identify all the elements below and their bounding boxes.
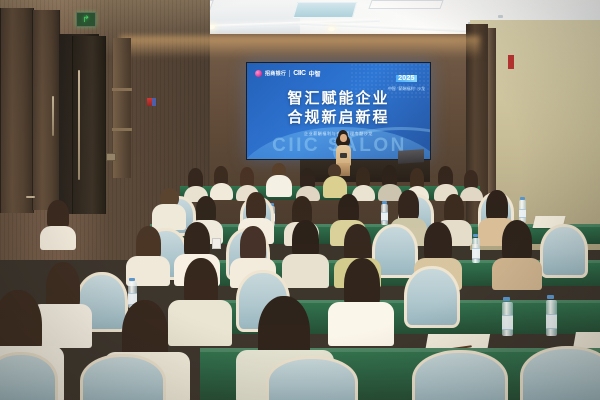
ceiling-downlight-5 bbox=[328, 27, 335, 31]
slide-title-line-1: 智汇赋能企业 bbox=[247, 89, 430, 108]
presenter-laptop bbox=[398, 149, 424, 164]
year-label: 2025 bbox=[396, 75, 417, 82]
attendee-head bbox=[398, 190, 419, 221]
wall-cove-light-glow bbox=[120, 36, 480, 58]
presenter-face bbox=[340, 134, 347, 142]
chair[interactable] bbox=[540, 224, 588, 278]
bottle-cap bbox=[547, 295, 554, 299]
attendee-body bbox=[40, 226, 76, 250]
niche-shelf-top bbox=[112, 88, 132, 91]
ciic-logo-cn-text: 中智 bbox=[309, 69, 321, 78]
slide-logo-row: 招商银行 CIIC 中智 bbox=[255, 69, 321, 78]
door-handle-2[interactable] bbox=[78, 70, 80, 180]
attendee-body bbox=[460, 187, 483, 201]
fire-alarm-box bbox=[508, 55, 514, 69]
chair-foreground[interactable] bbox=[266, 356, 358, 400]
bottle-cap bbox=[382, 201, 387, 204]
ceiling-panel-2 bbox=[368, 0, 443, 9]
ciic-logo-text: CIIC bbox=[293, 70, 305, 77]
wall-switch-plate[interactable] bbox=[106, 153, 116, 161]
wall-sign-blue bbox=[152, 98, 156, 106]
ceiling-skylight-panel bbox=[293, 2, 358, 18]
attendee-body bbox=[152, 204, 186, 230]
chair-foreground[interactable] bbox=[412, 350, 508, 400]
bottle-cap bbox=[503, 297, 510, 301]
exit-running-man-icon: ↱ bbox=[82, 15, 90, 24]
attendee-body bbox=[492, 258, 542, 290]
slide-title-block: 智汇赋能企业 合规新启新程 bbox=[247, 89, 430, 127]
chair[interactable] bbox=[404, 266, 460, 328]
door-handle-1[interactable] bbox=[52, 96, 54, 136]
logo-divider bbox=[289, 70, 290, 77]
bottle-label bbox=[519, 209, 526, 218]
attendee-body bbox=[266, 175, 292, 197]
bottle-cap bbox=[520, 197, 525, 200]
presenter-microphone bbox=[340, 153, 347, 158]
chair-foreground[interactable] bbox=[520, 346, 600, 400]
attendee-body bbox=[282, 254, 329, 288]
bottle-cap bbox=[129, 278, 135, 281]
conference-room-photo: ↱ 招商银行 CIIC 中智 2025 中智 "薪酬福利" 沙龙 智汇赋能企业 … bbox=[0, 0, 600, 400]
bank-logo-icon bbox=[255, 70, 262, 77]
bottle-label bbox=[381, 212, 388, 221]
niche-shelf-bottom bbox=[112, 128, 132, 131]
slide-title-line-2: 合规新启新程 bbox=[247, 108, 430, 127]
ceiling-vent-4 bbox=[498, 15, 503, 18]
attendee-body bbox=[168, 300, 232, 346]
attendee-head bbox=[246, 192, 266, 221]
attendee-body bbox=[328, 302, 394, 346]
bank-logo-text: 招商银行 bbox=[265, 70, 286, 77]
chair-foreground[interactable] bbox=[80, 354, 166, 400]
door-latch-1[interactable] bbox=[26, 196, 35, 198]
bottle-label bbox=[502, 315, 513, 330]
emergency-exit-icon: ↱ bbox=[76, 12, 96, 27]
name-badge bbox=[212, 238, 221, 249]
door-left-2[interactable] bbox=[32, 10, 60, 210]
bottle-cap bbox=[473, 234, 478, 237]
bottle-label bbox=[546, 314, 557, 329]
door-left-1[interactable] bbox=[0, 8, 34, 213]
attendee-body bbox=[210, 183, 233, 200]
bottle-label bbox=[472, 248, 480, 259]
